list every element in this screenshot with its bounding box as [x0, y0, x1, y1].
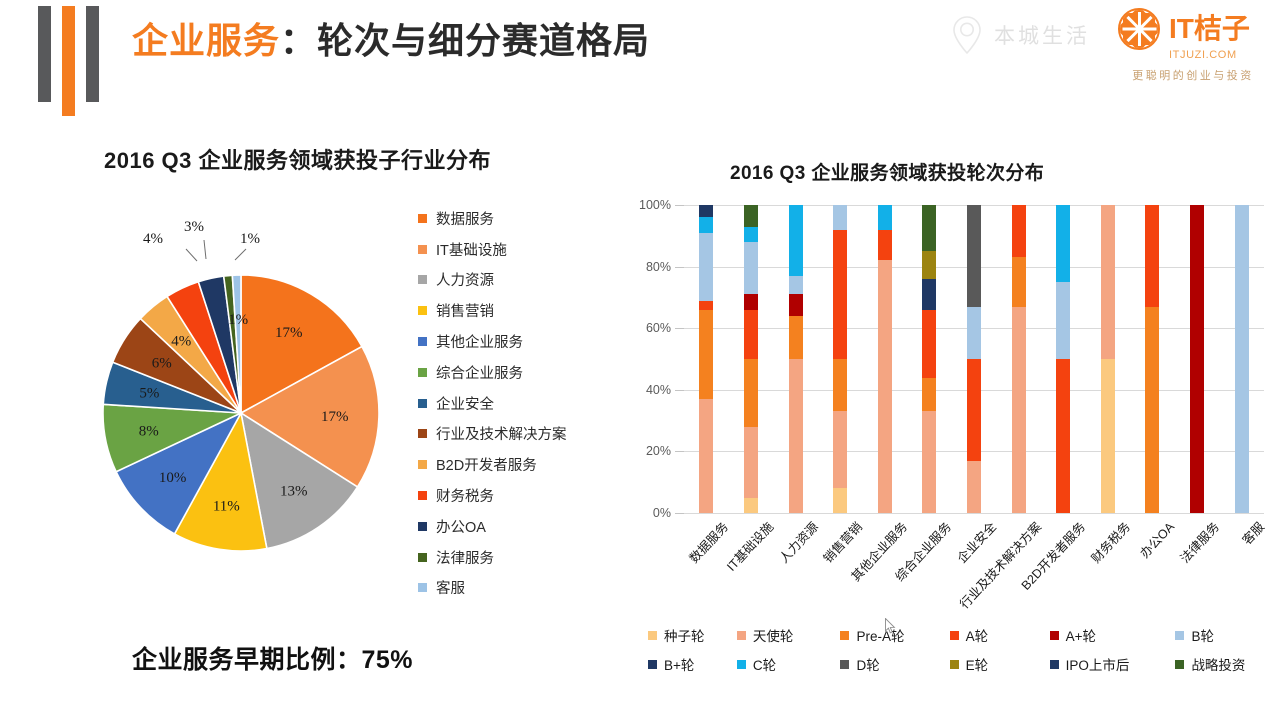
pie-legend-item[interactable]: 数据服务 [418, 203, 608, 234]
mouse-cursor-icon [885, 618, 896, 634]
bar-segment [833, 488, 847, 513]
pie-legend-label: B2D开发者服务 [436, 454, 537, 475]
pie-chart-title: 2016 Q3 企业服务领域获投子行业分布 [104, 143, 491, 175]
bar-segment [789, 316, 803, 359]
bar-segment [744, 294, 758, 309]
pie-legend-label: 财务税务 [436, 485, 494, 506]
bar-legend-item[interactable]: D轮 [840, 654, 949, 674]
bar-legend-item[interactable]: B+轮 [648, 654, 737, 674]
pie-slice-label: 10% [159, 470, 187, 486]
pie-legend-label: 人力资源 [436, 269, 494, 290]
pie-legend-swatch [418, 460, 427, 469]
pie-legend-label: 企业安全 [436, 393, 494, 414]
bar-column[interactable] [967, 205, 981, 513]
bar-segment [967, 359, 981, 461]
pie-slice-label: 17% [275, 325, 303, 341]
bar-segment [833, 411, 847, 488]
bar-legend-label: E轮 [966, 654, 989, 674]
pie-legend-item[interactable]: 人力资源 [418, 265, 608, 296]
brand-url: ITJUZI.COM [1169, 49, 1268, 61]
bar-column[interactable] [833, 205, 847, 513]
bar-segment [699, 310, 713, 399]
y-axis-tick-label: 0% [653, 506, 671, 520]
pie-legend-label: 行业及技术解决方案 [436, 423, 567, 444]
bar-segment [744, 310, 758, 359]
page-title-rest: ：轮次与细分赛道格局 [280, 20, 650, 61]
bar-segment [789, 276, 803, 294]
pie-legend-swatch [418, 275, 427, 284]
pie-legend-label: 法律服务 [436, 547, 494, 568]
y-axis-tick [675, 451, 684, 452]
bar-segment [1145, 205, 1159, 307]
pie-legend-item[interactable]: 销售营销 [418, 295, 608, 326]
y-axis-tick-label: 40% [646, 383, 671, 397]
bar-legend-swatch [840, 631, 849, 640]
y-axis-tick-label: 60% [646, 321, 671, 335]
bar-column[interactable] [699, 205, 713, 513]
bar-segment [744, 359, 758, 427]
bar-legend-swatch [840, 660, 849, 669]
bar-segment [922, 205, 936, 251]
bar-column[interactable] [744, 205, 758, 513]
bar-segment [1101, 205, 1115, 359]
pie-legend-label: 综合企业服务 [436, 362, 523, 383]
bar-column[interactable] [1056, 205, 1070, 513]
early-stage-ratio-note: 企业服务早期比例：75% [132, 640, 413, 676]
pie-legend-swatch [418, 399, 427, 408]
pie-legend-label: 数据服务 [436, 208, 494, 229]
pie-slice-label: 13% [280, 484, 308, 500]
pie-legend-item[interactable]: B2D开发者服务 [418, 449, 608, 480]
pie-slice-label: 11% [213, 499, 240, 515]
bar-legend-row-1: 种子轮天使轮Pre-A轮A轮A+轮B轮 [648, 625, 1268, 645]
pie-legend-item[interactable]: 企业安全 [418, 388, 608, 419]
bar-legend-label: 种子轮 [664, 625, 705, 645]
pie-legend-swatch [418, 368, 427, 377]
bar-column[interactable] [1012, 205, 1026, 513]
bar-legend-swatch [950, 631, 959, 640]
bar-segment [699, 205, 713, 217]
bar-legend-item[interactable]: A轮 [950, 625, 1050, 645]
bar-legend-swatch [737, 631, 746, 640]
pie-legend-item[interactable]: 行业及技术解决方案 [418, 419, 608, 450]
bar-column[interactable] [1101, 205, 1115, 513]
y-axis-tick [675, 205, 684, 206]
grid-line [684, 513, 1264, 514]
bar-segment [922, 279, 936, 310]
bar-legend-swatch [737, 660, 746, 669]
bar-legend-label: A轮 [966, 625, 989, 645]
bar-legend-row-2: B+轮C轮D轮E轮IPO上市后战略投资 [648, 654, 1268, 674]
bar-segment [833, 230, 847, 359]
pie-legend-label: 销售营销 [436, 300, 494, 321]
bar-segment [744, 427, 758, 498]
pie-leader-line [204, 240, 206, 259]
bar-legend-label: Pre-A轮 [856, 625, 904, 645]
bar-legend-label: D轮 [856, 654, 879, 674]
bar-legend: 种子轮天使轮Pre-A轮A轮A+轮B轮 B+轮C轮D轮E轮IPO上市后战略投资 [648, 625, 1268, 683]
bar-segment [878, 260, 892, 513]
pie-legend-item[interactable]: 办公OA [418, 511, 608, 542]
bar-chart-title: 2016 Q3 企业服务领域获投轮次分布 [730, 158, 1044, 185]
watermark-text: 本城生活 [994, 20, 1090, 50]
bar-segment [1012, 205, 1026, 257]
pie-legend-item[interactable]: 其他企业服务 [418, 326, 608, 357]
pie-slice-label: 5% [139, 386, 159, 402]
pie-slice-label: 1% [228, 312, 248, 328]
pie-legend-label: 办公OA [436, 516, 486, 537]
bar-segment [1190, 205, 1204, 513]
bar-segment [967, 461, 981, 513]
bar-legend-item[interactable]: IPO上市后 [1050, 654, 1176, 674]
bar-segment [789, 359, 803, 513]
bar-segment [1012, 257, 1026, 306]
bar-legend-swatch [950, 660, 959, 669]
bar-column[interactable] [1235, 205, 1249, 513]
bar-segment [1056, 359, 1070, 513]
bar-legend-label: A+轮 [1066, 625, 1096, 645]
pie-slice-label: 1% [240, 231, 260, 247]
bar-legend-item[interactable]: 种子轮 [648, 625, 737, 645]
bar-segment [967, 205, 981, 307]
bar-legend-label: 天使轮 [753, 625, 794, 645]
stacked-bar-chart: 0%20%40%60%80%100% 数据服务IT基础设施人力资源销售营销其他企… [684, 205, 1264, 513]
bar-legend-item[interactable]: B轮 [1175, 625, 1268, 645]
header-accent-bar-gray-left [38, 6, 51, 102]
bar-segment [789, 205, 803, 276]
bar-segment [1012, 307, 1026, 513]
bar-segment [967, 307, 981, 359]
y-axis-tick [675, 267, 684, 268]
pie-legend-swatch [418, 214, 427, 223]
pie-legend: 数据服务IT基础设施人力资源销售营销其他企业服务综合企业服务企业安全行业及技术解… [418, 203, 608, 603]
bar-legend-label: C轮 [753, 654, 776, 674]
brand-name: IT桔子 [1169, 14, 1250, 44]
bar-legend-item[interactable]: A+轮 [1050, 625, 1176, 645]
bar-legend-swatch [648, 631, 657, 640]
pie-legend-item[interactable]: 综合企业服务 [418, 357, 608, 388]
bar-legend-swatch [1175, 660, 1184, 669]
pie-legend-swatch [418, 337, 427, 346]
pie-legend-swatch [418, 553, 427, 562]
bar-legend-label: B+轮 [664, 654, 694, 674]
bar-segment [699, 217, 713, 232]
pie-leader-line [186, 249, 197, 261]
bar-segment [922, 310, 936, 378]
bar-legend-item[interactable]: E轮 [950, 654, 1050, 674]
bar-legend-item[interactable]: 天使轮 [737, 625, 841, 645]
pie-chart-svg: 17%17%13%11%10%8%5%6%4%4%3%1%1% [98, 213, 408, 568]
bar-legend-label: IPO上市后 [1066, 654, 1130, 674]
pie-legend-label: IT基础设施 [436, 239, 507, 260]
bar-segment [744, 227, 758, 242]
pie-legend-item[interactable]: 财务税务 [418, 480, 608, 511]
pie-slice-label: 4% [171, 334, 191, 350]
bar-legend-label: 战略投资 [1191, 654, 1245, 674]
bar-column[interactable] [922, 205, 936, 513]
y-axis-tick-label: 80% [646, 260, 671, 274]
pie-legend-swatch [418, 245, 427, 254]
bar-legend-label: B轮 [1191, 625, 1214, 645]
bar-segment [699, 399, 713, 513]
y-axis-tick [675, 390, 684, 391]
pie-legend-label: 其他企业服务 [436, 331, 523, 352]
header-accent-bar-orange [62, 6, 75, 116]
bar-segment [744, 498, 758, 513]
bar-segment [744, 205, 758, 227]
bar-legend-swatch [648, 660, 657, 669]
bar-legend-item[interactable]: 战略投资 [1175, 654, 1268, 674]
location-pin-icon [950, 14, 984, 56]
pie-slice-label: 3% [184, 219, 204, 235]
y-axis-tick-label: 100% [639, 198, 671, 212]
pie-legend-item[interactable]: IT基础设施 [418, 234, 608, 265]
bar-segment [878, 230, 892, 261]
pie-legend-swatch [418, 491, 427, 500]
pie-legend-swatch [418, 583, 427, 592]
bar-segment [833, 359, 847, 411]
bar-segment [1145, 307, 1159, 513]
header-accent-bar-gray-right [86, 6, 99, 102]
bar-segment [922, 251, 936, 279]
bar-segment [922, 411, 936, 513]
pie-legend-item[interactable]: 法律服务 [418, 542, 608, 573]
bar-segment [1056, 282, 1070, 359]
watermark: 本城生活 [950, 14, 1090, 56]
bar-legend-swatch [1050, 660, 1059, 669]
slide-header: 企业服务：轮次与细分赛道格局 本城生活 [0, 0, 1280, 108]
pie-legend-label: 客服 [436, 577, 465, 598]
pie-slice-label: 4% [143, 231, 163, 247]
bar-segment [1056, 205, 1070, 282]
bar-legend-item[interactable]: C轮 [737, 654, 841, 674]
bar-column[interactable] [789, 205, 803, 513]
page-title-highlight: 企业服务 [132, 20, 280, 61]
bar-column[interactable] [1145, 205, 1159, 513]
pie-chart: 17%17%13%11%10%8%5%6%4%4%3%1%1% [98, 213, 408, 568]
bar-column[interactable] [1190, 205, 1204, 513]
bar-segment [699, 233, 713, 301]
pie-legend-item[interactable]: 客服 [418, 573, 608, 604]
pie-slice-label: 17% [321, 409, 349, 425]
pie-legend-swatch [418, 306, 427, 315]
page-title: 企业服务：轮次与细分赛道格局 [132, 14, 650, 68]
bar-segment [1235, 205, 1249, 513]
pie-slice-label: 8% [139, 424, 159, 440]
bar-segment [744, 242, 758, 294]
pie-leader-lines [186, 240, 246, 261]
pie-legend-swatch [418, 429, 427, 438]
pie-leader-line [235, 249, 246, 260]
bar-segment [922, 378, 936, 412]
y-axis-tick [675, 328, 684, 329]
y-axis-tick-label: 20% [646, 444, 671, 458]
bar-segment [833, 205, 847, 230]
y-axis-tick [675, 513, 684, 514]
bar-segment [878, 205, 892, 230]
pie-slice-label: 6% [152, 356, 172, 372]
bar-segment [789, 294, 803, 316]
bar-segment [1101, 359, 1115, 513]
bar-legend-swatch [1050, 631, 1059, 640]
brand-logo: IT桔子 ITJUZI.COM 更聪明的创业与投资 [1118, 8, 1268, 83]
bar-legend-swatch [1175, 631, 1184, 640]
bar-segment [699, 301, 713, 310]
orange-slice-icon [1118, 8, 1160, 50]
bar-column[interactable] [878, 205, 892, 513]
pie-legend-swatch [418, 522, 427, 531]
brand-tagline: 更聪明的创业与投资 [1118, 67, 1268, 83]
